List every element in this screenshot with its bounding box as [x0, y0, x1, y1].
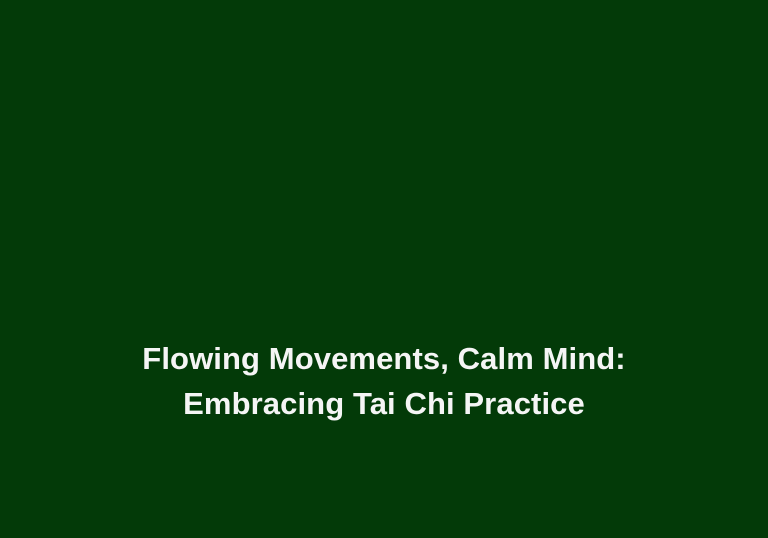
banner-card: Flowing Movements, Calm Mind: Embracing … — [0, 0, 768, 538]
title-line-1: Flowing Movements, Calm Mind: — [24, 336, 744, 381]
title-line-2: Embracing Tai Chi Practice — [24, 381, 744, 426]
page-title: Flowing Movements, Calm Mind: Embracing … — [0, 336, 768, 426]
